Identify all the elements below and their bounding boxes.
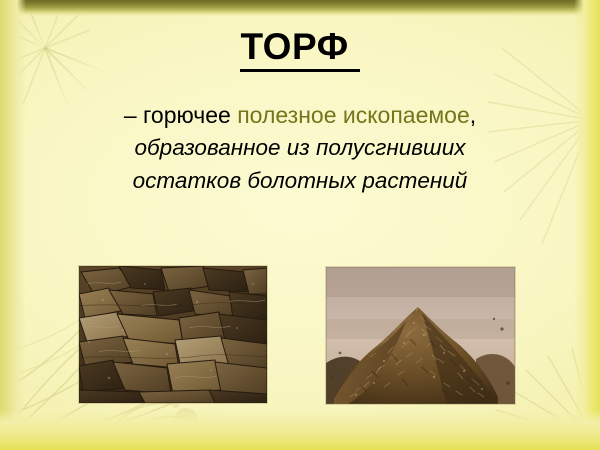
definition-line-1: – горючее полезное ископаемое, (28, 100, 572, 131)
peat-pile-photo (326, 267, 515, 404)
definition-line-2: образованное из полусгнивших (28, 131, 572, 164)
peat-briquettes-photo (79, 266, 267, 403)
definition-line-3: остатков болотных растений (28, 164, 572, 197)
definition-text: – горючее полезное ископаемое, образован… (28, 100, 572, 197)
definition-line-1-tail: , (470, 102, 476, 128)
definition-line-1-lead: – горючее (124, 102, 237, 128)
title-container: ТОРФ (0, 28, 600, 72)
slide-title: ТОРФ (240, 28, 359, 72)
slide: ТОРФ – горючее полезное ископаемое, обра… (0, 0, 600, 450)
top-border-band (0, 0, 600, 16)
definition-line-1-accent: полезное ископаемое (237, 102, 470, 128)
bottom-border-band (0, 410, 600, 450)
